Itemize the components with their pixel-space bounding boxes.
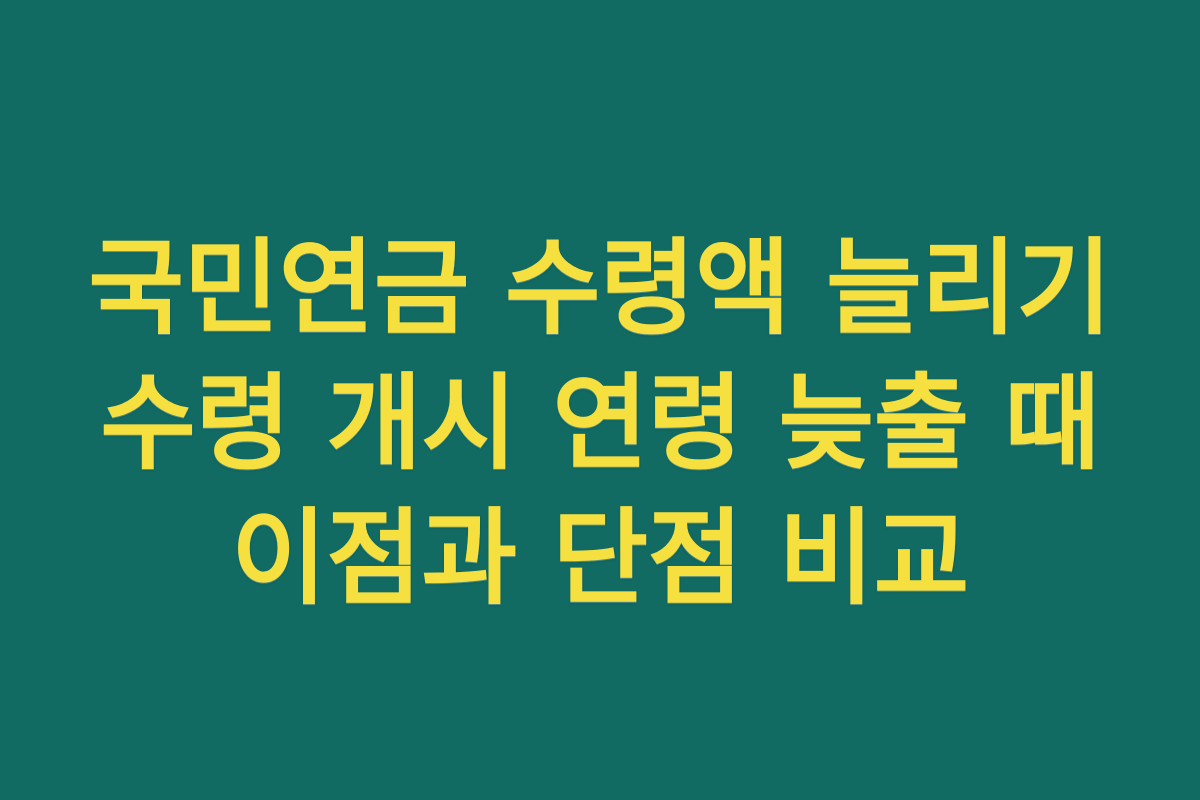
- headline-line-1: 국민연금 수령액 늘리기: [40, 221, 1160, 356]
- thumbnail-canvas: 국민연금 수령액 늘리기 수령 개시 연령 늦출 때 이점과 단점 비교: [0, 0, 1200, 800]
- headline-line-2: 수령 개시 연령 늦출 때: [40, 356, 1160, 491]
- headline-block: 국민연금 수령액 늘리기 수령 개시 연령 늦출 때 이점과 단점 비교: [40, 221, 1160, 626]
- headline-line-3: 이점과 단점 비교: [40, 491, 1160, 626]
